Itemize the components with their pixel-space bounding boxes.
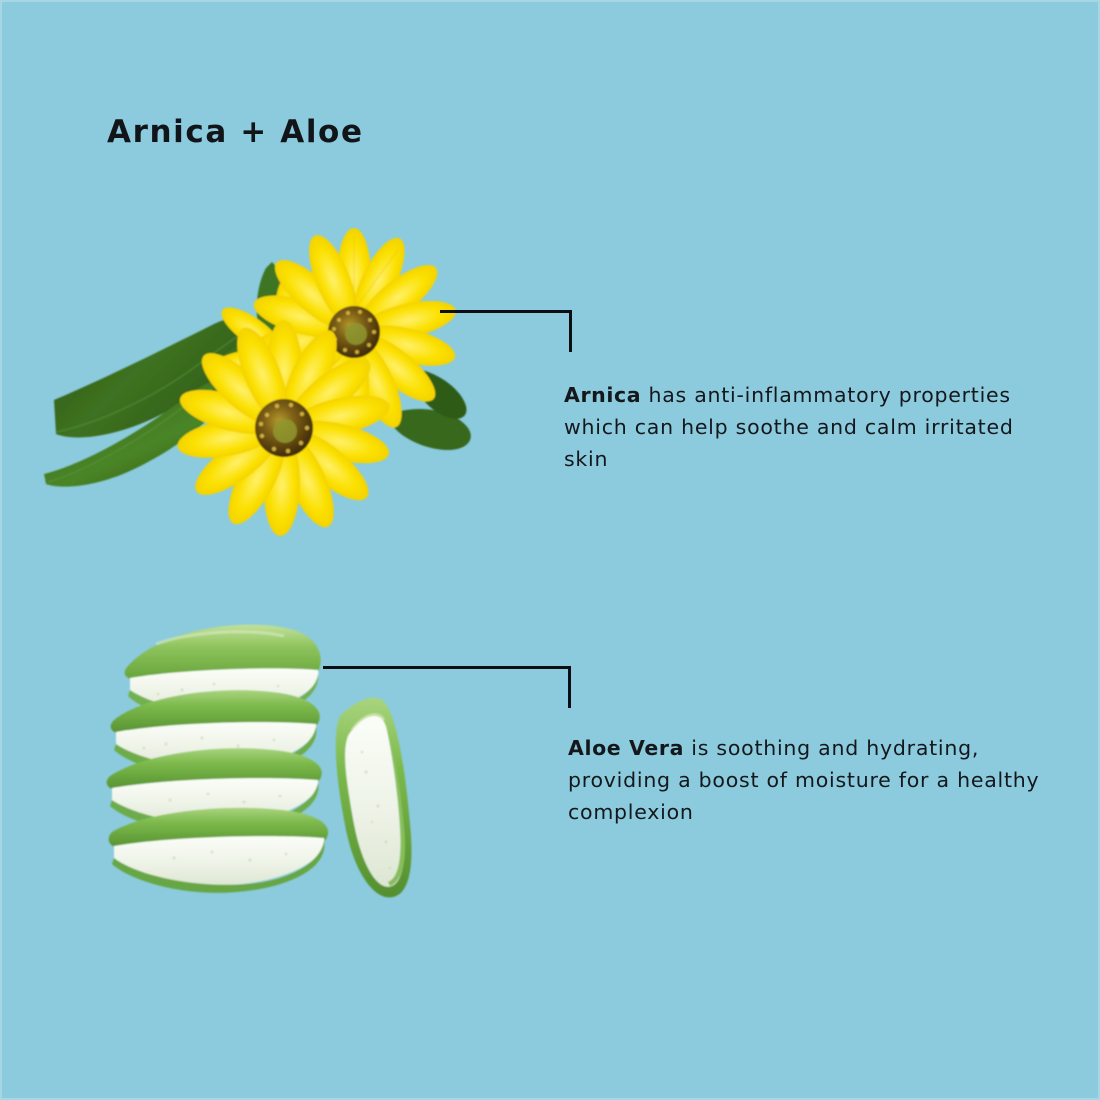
connector-horizontal-segment — [323, 666, 571, 669]
aloe-bold-lead: Aloe Vera — [568, 736, 684, 760]
arnica-bold-lead: Arnica — [564, 383, 641, 407]
connector-vertical-segment — [568, 666, 571, 708]
page-title: Arnica + Aloe — [107, 114, 364, 150]
arnica-sunflower-photo — [36, 228, 496, 538]
arnica-description: Arnica has anti-inflammatory properties … — [564, 379, 1024, 475]
connector-horizontal-segment — [440, 310, 572, 313]
aloe-vera-slices-photo — [90, 610, 460, 910]
infographic-canvas: Arnica + Aloe — [0, 0, 1100, 1100]
aloe-description: Aloe Vera is soothing and hydrating, pro… — [568, 732, 1068, 828]
connector-vertical-segment — [569, 310, 572, 352]
